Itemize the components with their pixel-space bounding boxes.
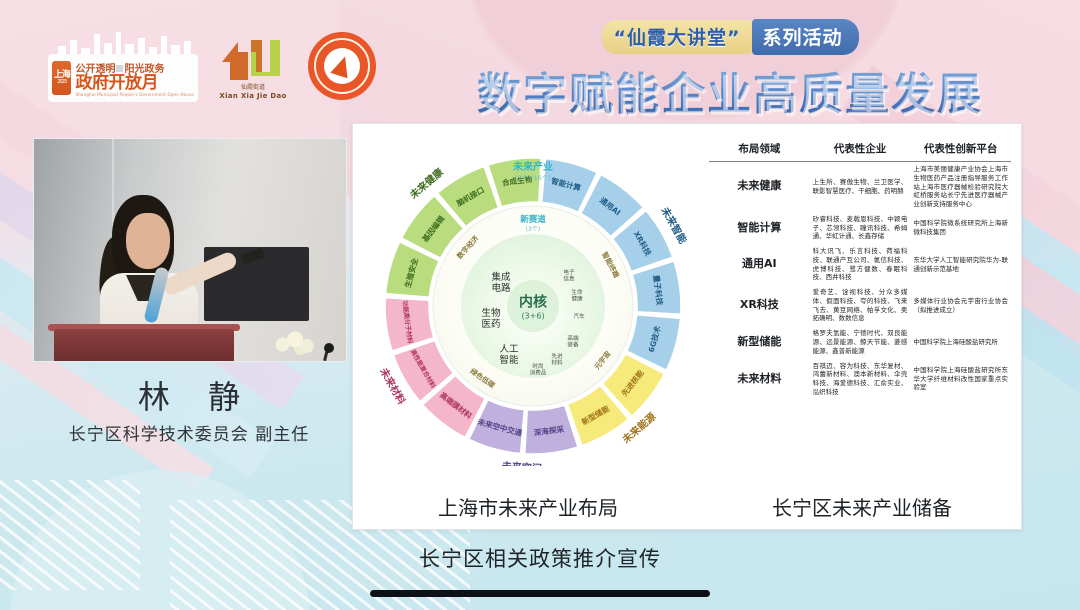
table-head: 布局领域 代表性企业 代表性创新平台	[709, 138, 1011, 162]
table-cell-companies: 百祺迈、容为科技、东华复材、鸿蕾新材料、澳本新材料、伞壳科技、海爱德科技、汇俞实…	[810, 359, 911, 400]
table-cell-companies: 科大讯飞、乐言科技、荷福科技、联通产互公司、氪信科技、虎博科技、鹭方健数、春眠科…	[810, 244, 911, 285]
slide-left-panel: 生殖安全基因编辑脑机接口合成生物智能计算通用AIXR科技量子科技6G技术先进核能…	[353, 124, 703, 529]
table-cell-platforms: 中国科学院上海硅酸盐研究所东华大学纤维材料改性国家重点实验室	[910, 359, 1011, 400]
slide-right-caption: 长宁区未来产业储备	[703, 492, 1021, 521]
table-cell-companies: 矽睿科技、麦戟恩科技、中颖电子、芯领科技、瞳讯科技、希姆通、华虹计通、长鑫存储	[810, 212, 911, 244]
table-cell-platforms: 多媒体行业协会元宇宙行业协会（拟推进成立）	[910, 285, 1011, 326]
wheel-core-small-label: 健康	[571, 295, 583, 303]
table-cell-area: 未来健康	[709, 162, 810, 212]
speaker-video-feed[interactable]	[33, 138, 347, 362]
table-cell-area: XR科技	[709, 285, 810, 326]
event-subtitle-row: “仙霞大讲堂” 系列活动	[430, 22, 1030, 52]
wheel-core-small-label: 生命	[571, 288, 583, 296]
future-industry-wheel-diagram: 生殖安全基因编辑脑机接口合成生物智能计算通用AIXR科技量子科技6G技术先进核能…	[373, 146, 693, 466]
broadcast-screen: 上海 2023 公开透明阳光政务 政府开放月 Shanghai Municipa…	[0, 0, 1080, 610]
logo-row: 上海 2023 公开透明阳光政务 政府开放月 Shanghai Municipa…	[48, 30, 376, 102]
flower-arrangement	[274, 329, 316, 355]
background-stripes-left	[0, 480, 140, 590]
table-cell-area: 通用AI	[709, 244, 810, 285]
table-cell-platforms: 上海市美丽健康产业协会上海市生物医药产品注册指导服务工作站上海市医疗器械检验研究…	[910, 162, 1011, 212]
page-title: 数字赋能企业高质量发展	[430, 58, 1030, 122]
presentation-slide[interactable]: 生殖安全基因编辑脑机接口合成生物智能计算通用AIXR科技量子科技6G技术先进核能…	[352, 123, 1022, 530]
svg-text:(5个+16个): (5个+16个)	[515, 174, 551, 182]
future-industry-table: 布局领域 代表性企业 代表性创新平台 未来健康上生所、赛傲生物、兰卫医学、联影智…	[709, 138, 1011, 400]
seal-year-text: 2023	[57, 80, 66, 85]
speaker-face	[126, 213, 170, 269]
table-body: 未来健康上生所、赛傲生物、兰卫医学、联影智慧医疗、干细胞、药明赫上海市美丽健康产…	[709, 162, 1011, 400]
wheel-svg: 生殖安全基因编辑脑机接口合成生物智能计算通用AIXR科技量子科技6G技术先进核能…	[373, 146, 693, 466]
table-cell-companies: 上生所、赛傲生物、兰卫医学、联影智慧医疗、干细胞、药明赫	[810, 162, 911, 212]
table-row: 未来健康上生所、赛傲生物、兰卫医学、联影智慧医疗、干细胞、药明赫上海市美丽健康产…	[709, 162, 1011, 212]
title-block: “仙霞大讲堂” 系列活动 数字赋能企业高质量发展	[430, 22, 1030, 122]
event-series-pill: 系列活动	[752, 19, 858, 55]
wheel-core-small-label: 时尚	[532, 362, 543, 370]
shanghai-seal-icon: 上海 2023	[52, 61, 71, 95]
wheel-core-small-label: 材料	[551, 359, 563, 367]
xianxia-street-logo: 仙霞街道 Xian Xia Jie Dao	[214, 32, 292, 100]
wheel-core-item-label: 生物	[481, 307, 501, 319]
gov-open-month-logo: 上海 2023 公开透明阳光政务 政府开放月 Shanghai Municipa…	[48, 30, 198, 102]
xianxia-name-en: Xian Xia Jie Dao	[219, 92, 286, 100]
svg-text:(3个): (3个)	[526, 226, 541, 233]
wheel-core-item-label: 集成	[491, 271, 511, 283]
table-cell-area: 智能计算	[709, 212, 810, 244]
table-cell-platforms: 中国科学院上海硅酸盐研究所	[910, 326, 1011, 358]
slide-left-caption: 上海市未来产业布局	[353, 492, 703, 521]
table-row: 未来材料百祺迈、容为科技、东华复材、鸿蕾新材料、澳本新材料、伞壳科技、海爱德科技…	[709, 359, 1011, 400]
table-header-area: 布局领域	[709, 138, 810, 162]
wheel-group-label: 未来空间	[500, 459, 542, 466]
wheel-core-item-label: 电路	[491, 282, 511, 294]
gov-logo-main-text: 政府开放月	[75, 75, 194, 92]
wheel-core-small-label: 信息	[563, 275, 575, 283]
wheel-core-item-label: 智能	[499, 354, 519, 366]
wheel-core-small-label: 消费品	[530, 369, 547, 377]
svg-text:新赛道: 新赛道	[520, 214, 546, 225]
wheel-core-item-label: 人工	[499, 344, 519, 355]
red-circular-emblem-icon	[308, 32, 376, 100]
table-cell-area: 新型储能	[709, 326, 810, 358]
video-progress-bar[interactable]	[370, 590, 710, 597]
wheel-core-small-label: 高端	[567, 334, 579, 342]
table-header-platforms: 代表性创新平台	[910, 138, 1011, 162]
wheel-core-small-label: 汽车	[573, 312, 585, 320]
wheel-core-small-label: 先进	[551, 352, 563, 360]
table-row: 智能计算矽睿科技、麦戟恩科技、中颖电子、芯领科技、瞳讯科技、希姆通、华虹计通、长…	[709, 212, 1011, 244]
svg-text:未来产业: 未来产业	[512, 160, 553, 173]
xianxia-mark-icon	[218, 32, 288, 84]
gov-logo-words: 公开透明阳光政务 政府开放月 Shanghai Municipal People…	[75, 60, 194, 97]
table-cell-companies: 格罗夫氢能、宁德时代、双良能源、远景能源、鲸天节能、菱感能源、鑫普新能源	[810, 326, 911, 358]
footer-caption: 长宁区相关政策推介宣传	[0, 543, 1080, 573]
flame-icon	[330, 54, 353, 79]
table-cell-platforms: 东华大学人工智能研究院华为-联通创新示范基地	[910, 244, 1011, 285]
table-row: XR科技爱奇艺、诠视科技、分众多媒体、假面科技、夸的科技、飞来飞去、黄豆网络、帕…	[709, 285, 1011, 326]
speaker-name: 林 静	[33, 372, 345, 418]
slide-content: 生殖安全基因编辑脑机接口合成生物智能计算通用AIXR科技量子科技6G技术先进核能…	[353, 124, 1021, 529]
table-header-row: 布局领域 代表性企业 代表性创新平台	[709, 138, 1011, 162]
divider-square-icon	[116, 65, 123, 72]
wheel-core-small-label: 装备	[567, 341, 579, 349]
speaker-role: 长宁区科学技术委员会 副主任	[33, 420, 345, 445]
emblem-inner-disc	[324, 48, 360, 84]
table-cell-platforms: 中国科学院微系统研究所上海新微科技集团	[910, 212, 1011, 244]
gov-logo-english-text: Shanghai Municipal People's Government O…	[75, 92, 194, 97]
wheel-core-item-label: 医药	[481, 319, 500, 330]
table-row: 通用AI科大讯飞、乐言科技、荷福科技、联通产互公司、氪信科技、虎博科技、鹭方健数…	[709, 244, 1011, 285]
wheel-core-small-label: 电子	[563, 268, 575, 276]
table-cell-companies: 爱奇艺、诠视科技、分众多媒体、假面科技、夸的科技、飞来飞去、黄豆网络、帕孚文化、…	[810, 285, 911, 326]
desk-microphone-icon	[324, 343, 334, 353]
gov-logo-card: 上海 2023 公开透明阳光政务 政府开放月 Shanghai Municipa…	[48, 54, 198, 102]
event-name-pill: “仙霞大讲堂”	[602, 20, 753, 54]
table-header-companies: 代表性企业	[810, 138, 911, 162]
slide-right-panel: 布局领域 代表性企业 代表性创新平台 未来健康上生所、赛傲生物、兰卫医学、联影智…	[703, 124, 1021, 529]
podium	[54, 329, 234, 361]
table-cell-area: 未来材料	[709, 359, 810, 400]
table-row: 新型储能格罗夫氢能、宁德时代、双良能源、远景能源、鲸天节能、菱感能源、鑫普新能源…	[709, 326, 1011, 358]
